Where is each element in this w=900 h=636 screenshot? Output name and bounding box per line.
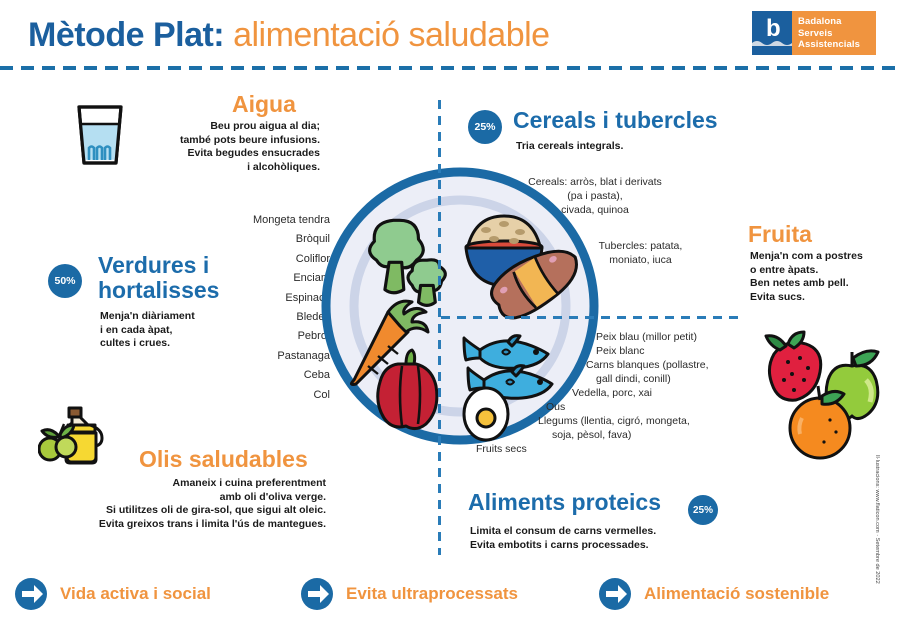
header: Mètode Plat: alimentació saludable b Bad… bbox=[0, 0, 900, 72]
proteics-title: Aliments proteics bbox=[468, 490, 661, 515]
page-title: Mètode Plat: alimentació saludable bbox=[28, 16, 550, 55]
infographic-page: Mètode Plat: alimentació saludable b Bad… bbox=[0, 0, 900, 636]
strawberry-icon bbox=[766, 332, 821, 400]
credit-text: Il·lustracions: www.flaticon.com · Setem… bbox=[874, 455, 880, 584]
proteics-list-item: gall dindi, conill) bbox=[468, 372, 743, 386]
cereals-title: Cereals i tubercles bbox=[513, 108, 718, 133]
cereals-subtext: Tria cereals integrals. bbox=[516, 140, 623, 154]
verdures-title-line-2: hortalisses bbox=[98, 278, 219, 303]
olis-title: Olis saludables bbox=[139, 447, 308, 472]
cereals-l1-line-2: (pa i pasta), bbox=[500, 189, 690, 203]
footer-item-vida-activa[interactable]: Vida activa i social bbox=[14, 577, 211, 611]
aigua-line-1: Beu prou aigua al dia; bbox=[120, 120, 320, 134]
fruita-line-3: Ben netes amb pell. bbox=[750, 277, 863, 291]
arrow-right-circle-icon bbox=[300, 577, 334, 611]
verdures-list-item: Mongeta tendra bbox=[205, 211, 330, 230]
aigua-title: Aigua bbox=[232, 92, 296, 117]
olis-line-4: Evita greixos trans i limita l'ús de man… bbox=[36, 518, 326, 532]
logo-line-1: Badalona bbox=[798, 16, 876, 28]
verdures-title: Verdures i hortalisses bbox=[98, 253, 219, 303]
verdures-list-item: Espinacs bbox=[205, 289, 330, 308]
fruita-line-1: Menja'n com a postres bbox=[750, 250, 863, 264]
cereals-l1-line-3: civada, quinoa bbox=[500, 203, 690, 217]
fruits-icon bbox=[762, 328, 894, 460]
logo-mark: b bbox=[752, 11, 792, 55]
verdures-list-item: Col bbox=[205, 386, 330, 405]
olis-line-1: Amaneix i cuina preferentment bbox=[36, 477, 326, 491]
aigua-text: Beu prou aigua al dia; també pots beure … bbox=[120, 120, 320, 174]
proteics-list-item: Peix blanc bbox=[468, 344, 743, 358]
cereals-l1-line-1: Cereals: arròs, blat i derivats bbox=[500, 175, 690, 189]
verdures-list-item: Bròquil bbox=[205, 230, 330, 249]
proteics-subtext: Limita el consum de carns vermelles. Evi… bbox=[470, 525, 656, 552]
proteics-list-item: Llegums (llentia, cigró, mongeta, bbox=[468, 414, 743, 428]
fruita-line-4: Evita sucs. bbox=[750, 291, 863, 305]
footer-label: Evita ultraprocessats bbox=[346, 584, 518, 604]
cereals-list-tubers: Tubercles: patata, moniato, iuca bbox=[578, 239, 703, 267]
verdures-list-item: Pastanaga bbox=[205, 347, 330, 366]
aigua-line-4: i alcohòliques. bbox=[120, 161, 320, 175]
logo-text: Badalona Serveis Assistencials bbox=[792, 11, 876, 55]
plate-horizontal-divider bbox=[441, 316, 741, 319]
logo-line-3: Assistencials bbox=[798, 39, 876, 51]
wave-icon bbox=[752, 39, 792, 46]
proteics-list-item: Carns blanques (pollastre, bbox=[468, 358, 743, 372]
verdures-food-list: Mongeta tendraBròquilColiflorEnciamEspin… bbox=[205, 211, 330, 405]
plate-vertical-divider bbox=[438, 100, 441, 555]
proteics-list-item: soja, pèsol, fava) bbox=[468, 428, 743, 442]
header-divider bbox=[0, 66, 900, 70]
logo-letter: b bbox=[766, 17, 781, 41]
cereals-l2-line-2: moniato, iuca bbox=[578, 253, 703, 267]
proteics-food-list: Peix blau (millor petit)Peix blancCarns … bbox=[468, 330, 743, 456]
aigua-line-3: Evita begudes ensucrades bbox=[120, 147, 320, 161]
proteics-list-item: Ous bbox=[468, 400, 743, 414]
olis-line-2: amb oli d'oliva verge. bbox=[36, 491, 326, 505]
verdures-list-item: Pebrot bbox=[205, 327, 330, 346]
footer-item-sostenible[interactable]: Alimentació sostenible bbox=[598, 577, 829, 611]
proteics-list-item: Peix blau (millor petit) bbox=[468, 330, 743, 344]
verdures-percent-badge: 50% bbox=[48, 264, 82, 298]
aigua-line-2: també pots beure infusions. bbox=[120, 134, 320, 148]
olis-line-3: Si utilitzes oli de gira-sol, que sigui … bbox=[36, 504, 326, 518]
proteics-sub-2: Evita embotits i carns processades. bbox=[470, 539, 656, 553]
fruita-title: Fruita bbox=[748, 222, 812, 247]
arrow-right-circle-icon bbox=[598, 577, 632, 611]
proteics-percent-badge: 25% bbox=[688, 495, 718, 525]
verdures-list-item: Coliflor bbox=[205, 250, 330, 269]
badalona-logo: b Badalona Serveis Assistencials bbox=[752, 11, 876, 55]
proteics-sub-1: Limita el consum de carns vermelles. bbox=[470, 525, 656, 539]
fruita-text: Menja'n com a postres o entre àpats. Ben… bbox=[750, 250, 863, 304]
footer-label: Alimentació sostenible bbox=[644, 584, 829, 604]
verdures-title-line-1: Verdures i bbox=[98, 253, 219, 278]
title-primary: Mètode Plat: bbox=[28, 16, 224, 54]
cereals-l2-line-1: Tubercles: patata, bbox=[578, 239, 703, 253]
fruita-line-2: o entre àpats. bbox=[750, 264, 863, 278]
proteics-list-item: Vedella, porc, xai bbox=[468, 386, 743, 400]
title-secondary: alimentació saludable bbox=[233, 16, 549, 54]
verdures-list-item: Enciam bbox=[205, 269, 330, 288]
footer-label: Vida activa i social bbox=[60, 584, 211, 604]
verdures-list-item: Ceba bbox=[205, 366, 330, 385]
arrow-right-circle-icon bbox=[14, 577, 48, 611]
verdures-list-item: Bledes bbox=[205, 308, 330, 327]
cereals-percent-badge: 25% bbox=[468, 110, 502, 144]
proteics-list-item: Fruits secs bbox=[468, 442, 743, 456]
cereals-list-grains: Cereals: arròs, blat i derivats (pa i pa… bbox=[500, 175, 690, 217]
footer-item-ultraprocessats[interactable]: Evita ultraprocessats bbox=[300, 577, 518, 611]
olis-text: Amaneix i cuina preferentment amb oli d'… bbox=[36, 477, 326, 531]
olive-oil-bottle-icon bbox=[38, 405, 106, 467]
logo-line-2: Serveis bbox=[798, 28, 876, 40]
